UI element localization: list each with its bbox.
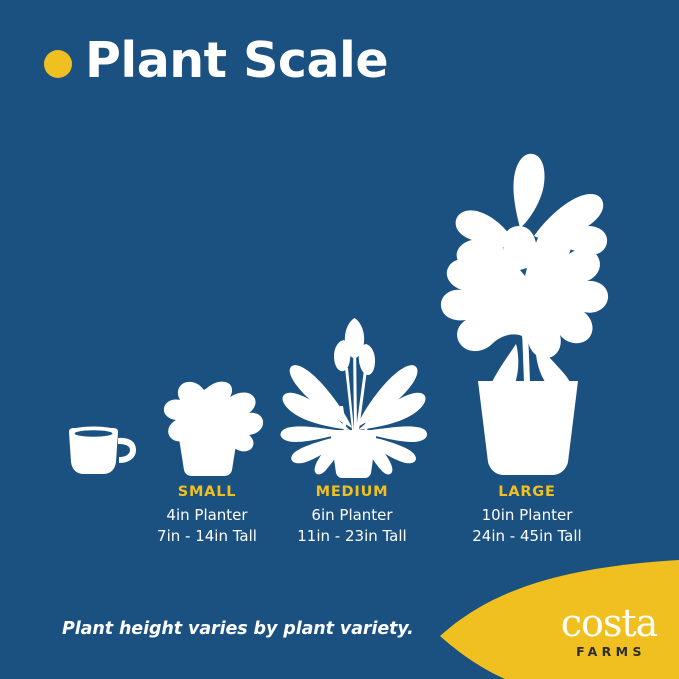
dot-icon [44, 50, 72, 78]
planter-size-medium: 6in Planter [252, 505, 452, 526]
costa-farms-logo: costa FARMS [548, 605, 670, 659]
footnote-text: Plant height varies by plant variety. [62, 619, 414, 639]
logo-sub-wordmark: FARMS [548, 644, 670, 659]
size-name-medium: MEDIUM [252, 484, 452, 500]
header: Plant Scale [44, 36, 388, 85]
logo-wordmark: costa [548, 605, 670, 641]
page-title: Plant Scale [85, 36, 388, 85]
height-range-medium: 11in - 23in Tall [252, 526, 452, 547]
medium-peace-lily-icon [281, 318, 428, 478]
height-range-large: 24in - 45in Tall [427, 526, 627, 547]
size-name-large: LARGE [427, 484, 627, 500]
size-labels: SMALL 4in Planter 7in - 14in Tall MEDIUM… [0, 484, 679, 554]
plant-scale-infographic: Plant Scale [0, 0, 679, 679]
yellow-wave-shape [0, 0, 679, 679]
size-label-medium: MEDIUM 6in Planter 11in - 23in Tall [252, 484, 452, 548]
small-leafy-plant-icon [164, 382, 263, 476]
large-fiddle-leaf-plant-icon [441, 154, 608, 475]
size-label-large: LARGE 10in Planter 24in - 45in Tall [427, 484, 627, 548]
planter-size-large: 10in Planter [427, 505, 627, 526]
artwork-stage [0, 0, 679, 679]
coffee-mug-icon [69, 427, 136, 475]
